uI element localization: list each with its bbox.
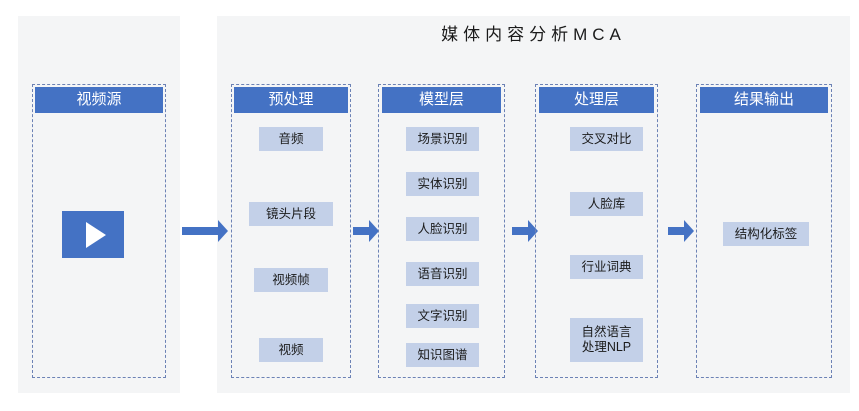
arrow-preprocess-to-model (353, 220, 379, 242)
play-icon[interactable] (62, 211, 124, 258)
arrow-shaft (668, 227, 684, 235)
node-preprocess-video[interactable]: 视频 (259, 338, 323, 362)
node-process-nlp[interactable]: 自然语言 处理NLP (570, 318, 643, 362)
arrow-process-to-output (668, 220, 694, 242)
arrow-head (684, 220, 694, 242)
stage-header-model[interactable]: 模型层 (382, 87, 501, 113)
stage-header-process[interactable]: 处理层 (539, 87, 654, 113)
arrow-shaft (182, 227, 218, 235)
node-model-scene[interactable]: 场景识别 (406, 127, 479, 151)
node-model-speech[interactable]: 语音识别 (406, 262, 479, 286)
node-model-ocr[interactable]: 文字识别 (406, 304, 479, 328)
page-title: 媒体内容分析MCA (217, 20, 850, 45)
stage-header-video-source[interactable]: 视频源 (35, 87, 163, 113)
node-model-entity[interactable]: 实体识别 (406, 172, 479, 196)
node-preprocess-frame[interactable]: 视频帧 (254, 268, 328, 292)
stage-header-output[interactable]: 结果输出 (700, 87, 828, 113)
node-process-face-db[interactable]: 人脸库 (570, 192, 643, 216)
stage-header-preprocess[interactable]: 预处理 (234, 87, 348, 113)
node-output-structured-tags[interactable]: 结构化标签 (723, 222, 809, 246)
play-triangle (86, 222, 106, 248)
arrow-shaft (512, 227, 528, 235)
node-model-face[interactable]: 人脸识别 (406, 217, 479, 241)
node-preprocess-shot[interactable]: 镜头片段 (249, 202, 333, 226)
diagram-canvas: 媒体内容分析MCA 视频源 预处理 音频 镜头片段 视频帧 视频 模型层 场景识… (0, 0, 859, 411)
arrow-head (218, 220, 228, 242)
node-process-cross-compare[interactable]: 交叉对比 (570, 127, 643, 151)
arrow-shaft (353, 227, 369, 235)
node-model-knowledge[interactable]: 知识图谱 (406, 343, 479, 367)
node-process-industry-dict[interactable]: 行业词典 (570, 255, 643, 279)
arrow-source-to-preprocess (182, 220, 228, 242)
node-preprocess-audio[interactable]: 音频 (259, 127, 323, 151)
